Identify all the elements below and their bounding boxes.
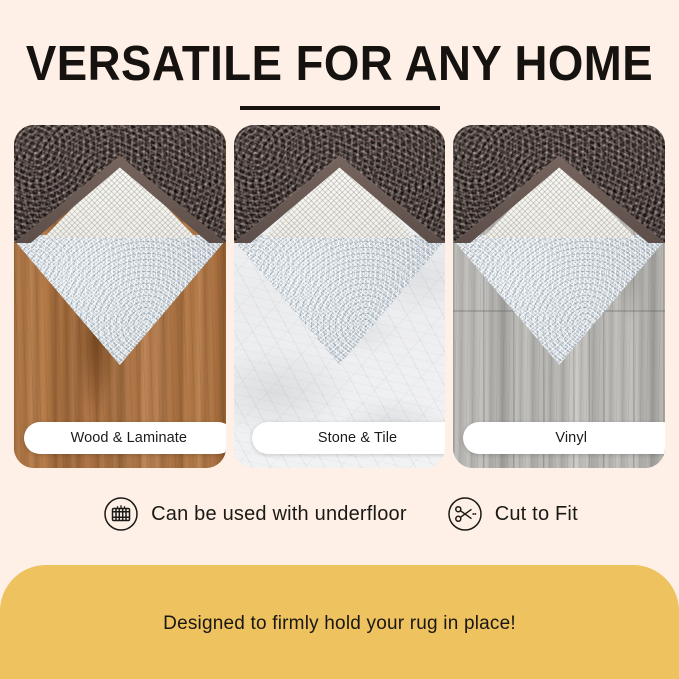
feature-underfloor-heating: Can be used with underfloor [101, 494, 407, 534]
banner-text: Designed to firmly hold your rug in plac… [0, 613, 679, 635]
header: VERSATILE FOR ANY HOME [0, 36, 679, 110]
floor-type-card-stone-tile[interactable]: Stone & Tile [234, 125, 446, 468]
scissors-icon [445, 494, 485, 534]
feature-list: Can be used with underfloor Cut to Fit [0, 494, 679, 534]
card-label-pill: Wood & Laminate [24, 422, 226, 454]
feature-label: Can be used with underfloor [151, 503, 407, 526]
card-label-text: Vinyl [555, 430, 587, 446]
infographic-root: VERSATILE FOR ANY HOME Wood & Laminate S… [0, 0, 679, 679]
page-title: VERSATILE FOR ANY HOME [24, 36, 655, 92]
feature-cut-to-fit: Cut to Fit [445, 494, 578, 534]
card-label-pill: Vinyl [463, 422, 665, 454]
card-label-text: Wood & Laminate [71, 430, 188, 446]
title-divider [240, 106, 440, 110]
underfloor-heating-icon [101, 494, 141, 534]
feature-label: Cut to Fit [495, 503, 578, 526]
bottom-banner: Designed to firmly hold your rug in plac… [0, 565, 679, 679]
floor-type-card-vinyl[interactable]: Vinyl [453, 125, 665, 468]
card-label-pill: Stone & Tile [252, 422, 446, 454]
card-label-text: Stone & Tile [318, 430, 397, 446]
floor-type-card-wood-laminate[interactable]: Wood & Laminate [14, 125, 226, 468]
floor-type-card-list: Wood & Laminate Stone & Tile Vinyl [14, 125, 665, 468]
